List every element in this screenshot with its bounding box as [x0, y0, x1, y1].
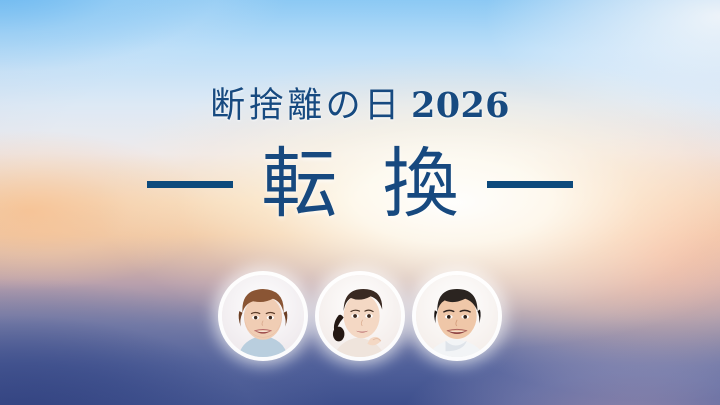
poster-subtitle: 断捨離の日2026	[210, 88, 510, 124]
portrait-man	[416, 275, 498, 357]
rule-left-decoration	[147, 181, 233, 188]
portrait-woman-senior	[222, 275, 304, 357]
subtitle-year: 2026	[411, 85, 510, 126]
portrait-group	[0, 275, 720, 357]
rule-right-decoration	[487, 181, 573, 188]
portrait-woman-young	[319, 275, 401, 357]
subtitle-text: 断捨離の日	[210, 86, 403, 126]
poster-headline-row: 転 換	[147, 146, 574, 222]
poster-canvas: 断捨離の日2026 転 換	[0, 0, 720, 405]
poster-headline: 転 換	[251, 146, 470, 222]
